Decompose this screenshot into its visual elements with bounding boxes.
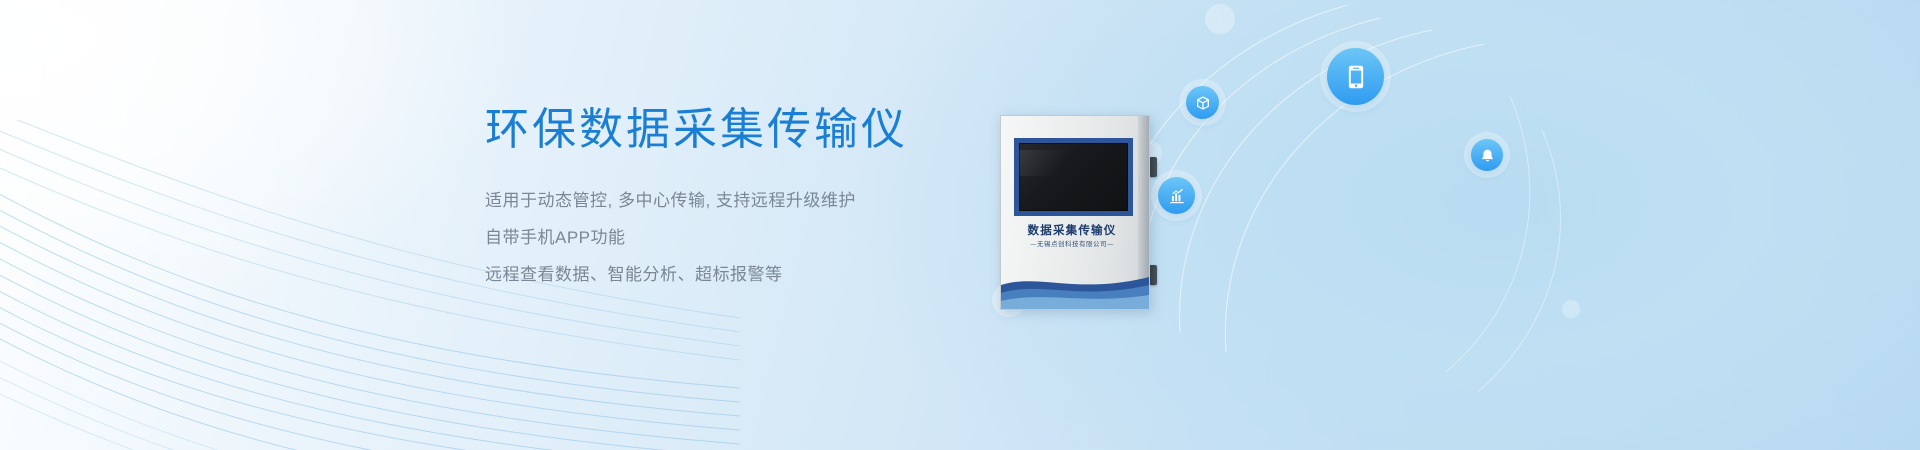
cube-icon	[1195, 95, 1211, 111]
device-screen-glare	[1019, 150, 1077, 176]
feature-bubble-analytics	[1158, 177, 1195, 214]
product-hero-banner: 环保数据采集传输仪 适用于动态管控, 多中心传输, 支持远程升级维护 自带手机A…	[0, 0, 1920, 450]
feature-bubble-box	[1186, 86, 1219, 119]
device-wave-graphic	[1001, 261, 1149, 309]
device-wave-svg	[1001, 261, 1149, 309]
corner-glow-decoration	[0, 0, 520, 330]
alarm-icon	[1480, 148, 1495, 163]
device-hinge	[1149, 265, 1157, 285]
feature-bubble-mobile-app	[1327, 48, 1384, 105]
feature-line-2: 自带手机APP功能	[485, 219, 1045, 256]
feature-list: 适用于动态管控, 多中心传输, 支持远程升级维护 自带手机APP功能 远程查看数…	[485, 182, 1045, 293]
product-device-image: 数据采集传输仪 —无锡点创科技有限公司—	[1000, 115, 1150, 310]
feature-line-3: 远程查看数据、智能分析、超标报警等	[485, 256, 1045, 293]
product-visual	[1080, 0, 1640, 450]
page-title: 环保数据采集传输仪	[485, 100, 1045, 160]
chart-icon	[1168, 187, 1186, 205]
feature-line-1: 适用于动态管控, 多中心传输, 支持远程升级维护	[485, 182, 1045, 219]
feature-bubble-alert	[1471, 139, 1503, 171]
banner-copy: 环保数据采集传输仪 适用于动态管控, 多中心传输, 支持远程升级维护 自带手机A…	[485, 100, 1045, 293]
device-label-title: 数据采集传输仪	[1001, 222, 1143, 238]
device-label-company: —无锡点创科技有限公司—	[1001, 238, 1143, 248]
device-cabinet: 数据采集传输仪 —无锡点创科技有限公司—	[1000, 115, 1150, 310]
phone-icon	[1343, 64, 1369, 90]
device-hinge	[1149, 157, 1157, 177]
